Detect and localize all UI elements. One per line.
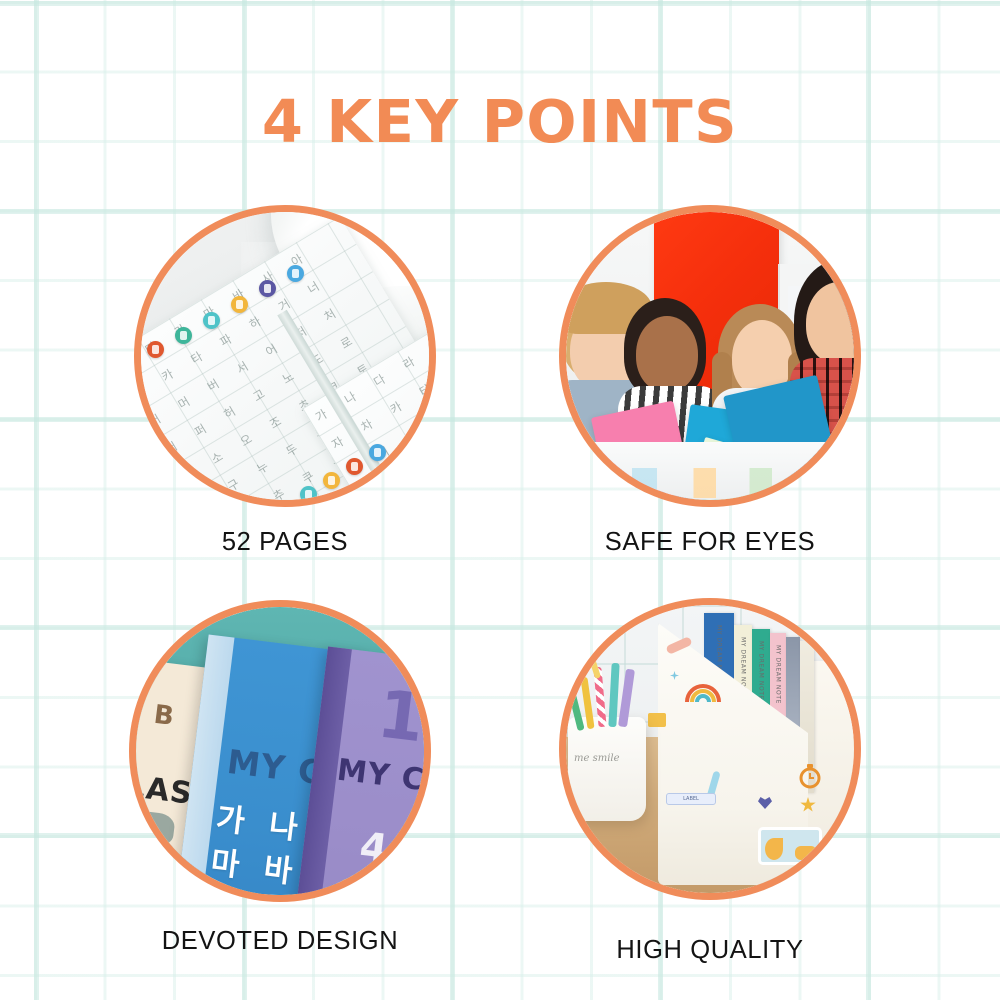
cover-numeral-5: 5 [419, 809, 424, 858]
student-2-head [636, 316, 698, 392]
index-tab-purple [259, 280, 276, 297]
photo-desk-organizer-with-notebooks: MY AB MY DREAM NOTE MY DREAM NOTE MY DRE… [566, 605, 854, 893]
key-point-card-quality[interactable]: MY AB MY DREAM NOTE MY DREAM NOTE MY DRE… [500, 598, 920, 965]
photo-three-workbook-covers: A B CLAS C G J 15 MY CLAS [136, 607, 424, 895]
side-label-text: MY AB [850, 877, 854, 888]
index-tab-cyan [203, 312, 220, 329]
photo-circle-pages[interactable]: 가나다라마바사아자차카타파하거너더러머버서어저처커터퍼허고노도로모보소오조초코토… [134, 205, 436, 507]
photo-open-korean-workbook-under-lamp: 가나다라마바사아자차카타파하거너더러머버서어저처커터퍼허고노도로모보소오조초코토… [141, 212, 429, 500]
cover-numeral-4: 4 [357, 824, 390, 873]
tile-shape-yellow [765, 838, 783, 860]
card-caption-quality: HIGH QUALITY [500, 936, 920, 965]
index-tab-orange-2 [346, 458, 363, 475]
index-tab-yellow-2 [323, 472, 340, 489]
decorative-tile-sticker [758, 827, 822, 865]
index-tab-yellow [231, 296, 248, 313]
stopwatch-sticker [798, 763, 822, 789]
key-point-card-pages[interactable]: 가나다라마바사아자차카타파하거너더러머버서어저처커터퍼허고노도로모보소오조초코토… [75, 205, 495, 557]
index-tab-orange [147, 341, 164, 358]
cover-numeral-1: 1 [374, 675, 424, 757]
photo-circle-quality[interactable]: MY AB MY DREAM NOTE MY DREAM NOTE MY DRE… [559, 598, 861, 900]
card-caption-design: DEVOTED DESIGN [70, 927, 490, 956]
index-tab-blue-2 [369, 444, 386, 461]
color-index-tabs [141, 212, 429, 500]
photo-circle-eyes[interactable] [559, 205, 861, 507]
key-point-card-design[interactable]: A B CLAS C G J 15 MY CLAS [70, 600, 490, 956]
elephant-illustration [136, 810, 176, 847]
cover-letter-b: B [152, 700, 175, 732]
color-papers [576, 468, 854, 498]
rainbow-sticker [684, 679, 722, 703]
pen-cup-text: me smile [574, 753, 620, 764]
card-caption-pages: 52 PAGES [75, 528, 495, 557]
card-caption-eyes: SAFE FOR EYES [500, 528, 920, 557]
cover-dot-2 [338, 878, 358, 895]
notebook-label: MY DREAM NOTE [775, 645, 782, 704]
index-tab-teal [175, 327, 192, 344]
page-title: 4 KEY POINTS [0, 92, 1000, 151]
key-points-grid: 가나다라마바사아자차카타파하거너더러머버서어저처커터퍼허고노도로모보소오조초코토… [0, 205, 1000, 1000]
index-tab-blue [287, 265, 304, 282]
note-sticker [648, 713, 666, 727]
cover-title-purple: MY C [335, 753, 424, 798]
photo-four-smiling-students-with-books [566, 212, 854, 500]
cover-title-cream: CLAS [136, 766, 195, 812]
tile-shape-yellow-2 [795, 846, 817, 860]
notebook-label: MY DREAM NOTE [758, 641, 765, 700]
index-tab-cyan-2 [300, 486, 317, 500]
key-point-card-eyes[interactable]: SAFE FOR EYES [500, 205, 920, 557]
label-tag: LABEL [666, 793, 716, 805]
pen-cup: me smile [568, 717, 646, 821]
photo-circle-design[interactable]: A B CLAS C G J 15 MY CLAS [129, 600, 431, 902]
